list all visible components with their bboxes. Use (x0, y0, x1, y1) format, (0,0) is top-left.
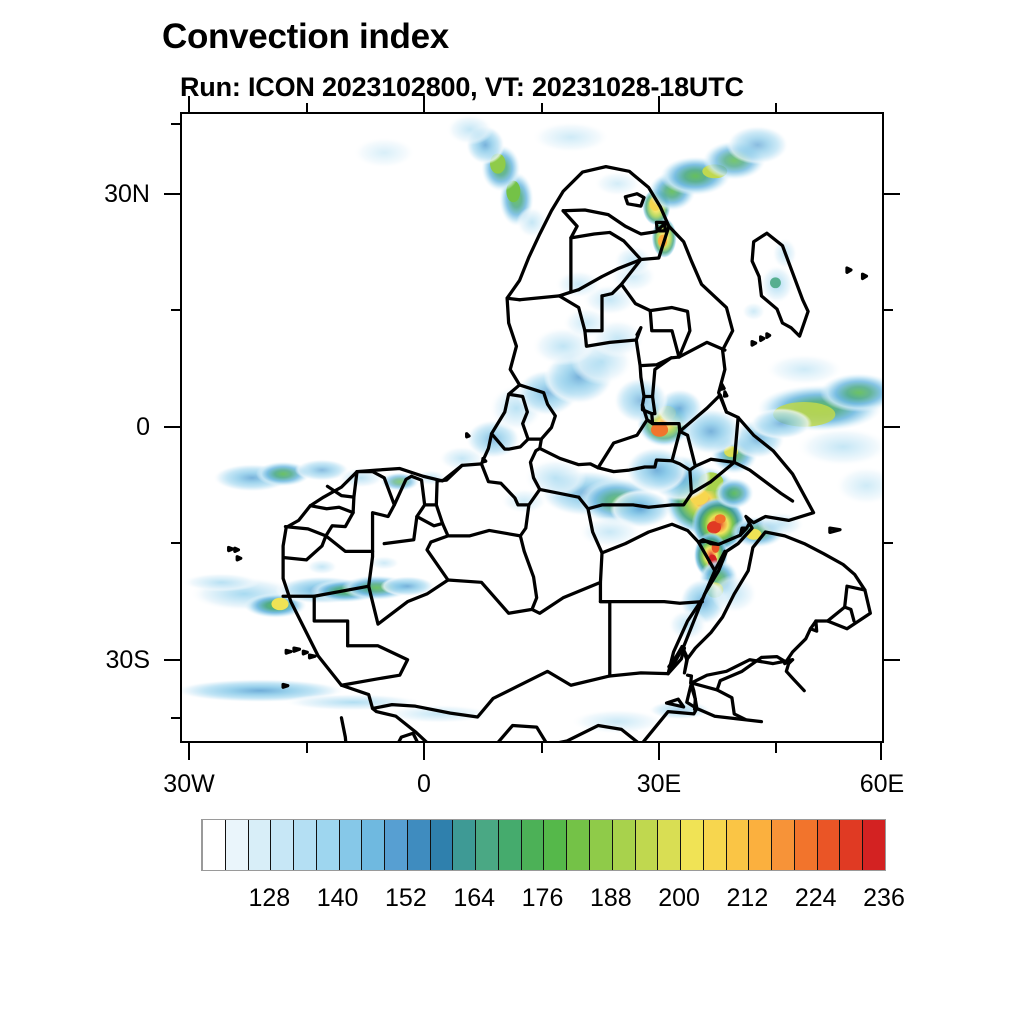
lat-tick-minor (171, 123, 180, 125)
colorbar-cell (727, 820, 750, 870)
colorbar-tick-label: 236 (844, 884, 924, 913)
lat-tick-minor (171, 309, 180, 311)
lon-tick-30w-top (188, 96, 190, 112)
colorbar-cell (294, 820, 317, 870)
colorbar-cell (567, 820, 590, 870)
lat-label-0: 0 (40, 413, 150, 442)
lat-tick-minor (171, 542, 180, 544)
lon-label-60e: 60E (822, 770, 942, 799)
page-title: Convection index (162, 17, 449, 57)
lat-tick-30s-right (884, 659, 900, 661)
lon-tick-60e (880, 743, 882, 760)
colorbar-cell (271, 820, 294, 870)
colorbar-cell (840, 820, 863, 870)
lon-tick-30w (188, 743, 190, 760)
colorbar[interactable] (201, 819, 886, 871)
colorbar-cell (795, 820, 818, 870)
colorbar-cell (408, 820, 431, 870)
colorbar-cell (522, 820, 545, 870)
colorbar-cell (249, 820, 272, 870)
lat-tick-minor-right (884, 309, 893, 311)
lon-tick-30e-top (658, 96, 660, 112)
colorbar-cell (476, 820, 499, 870)
convection-field (182, 114, 882, 734)
lon-label-30e: 30E (599, 770, 719, 799)
lat-label-30s: 30S (40, 646, 150, 675)
map-canvas (182, 114, 882, 741)
lon-tick-minor (306, 743, 308, 753)
colorbar-cell (704, 820, 727, 870)
colorbar-cell (590, 820, 613, 870)
map-plot-area[interactable] (180, 112, 884, 743)
colorbar-cell (385, 820, 408, 870)
lat-label-30n: 30N (40, 180, 150, 209)
lat-tick-minor (171, 717, 180, 719)
colorbar-cell (340, 820, 363, 870)
colorbar-cell (226, 820, 249, 870)
lon-tick-minor-top (775, 103, 777, 112)
colorbar-cell (863, 820, 885, 870)
lon-tick-0 (423, 743, 425, 760)
colorbar-cell (749, 820, 772, 870)
colorbar-cell (499, 820, 522, 870)
lon-label-0: 0 (364, 770, 484, 799)
lon-tick-30e (658, 743, 660, 760)
lat-tick-minor-right (884, 542, 893, 544)
lat-tick-30s (164, 659, 180, 661)
lon-tick-minor (775, 743, 777, 753)
colorbar-cell (202, 820, 226, 870)
lon-tick-minor (541, 743, 543, 753)
colorbar-cell (544, 820, 567, 870)
lon-tick-minor-top (306, 103, 308, 112)
lat-tick-0-right (884, 426, 900, 428)
colorbar-cell (317, 820, 340, 870)
lon-tick-0-top (423, 96, 425, 112)
colorbar-cell (431, 820, 454, 870)
lon-label-30w: 30W (129, 770, 249, 799)
colorbar-cell (636, 820, 659, 870)
colorbar-cell (453, 820, 476, 870)
lat-tick-0 (164, 426, 180, 428)
colorbar-cell (772, 820, 795, 870)
lon-tick-minor-top (541, 103, 543, 112)
lat-tick-30n (164, 193, 180, 195)
colorbar-cell (613, 820, 636, 870)
colorbar-cell (362, 820, 385, 870)
lat-tick-30n-right (884, 193, 900, 195)
colorbar-cell (818, 820, 841, 870)
colorbar-cell (681, 820, 704, 870)
colorbar-cell (658, 820, 681, 870)
